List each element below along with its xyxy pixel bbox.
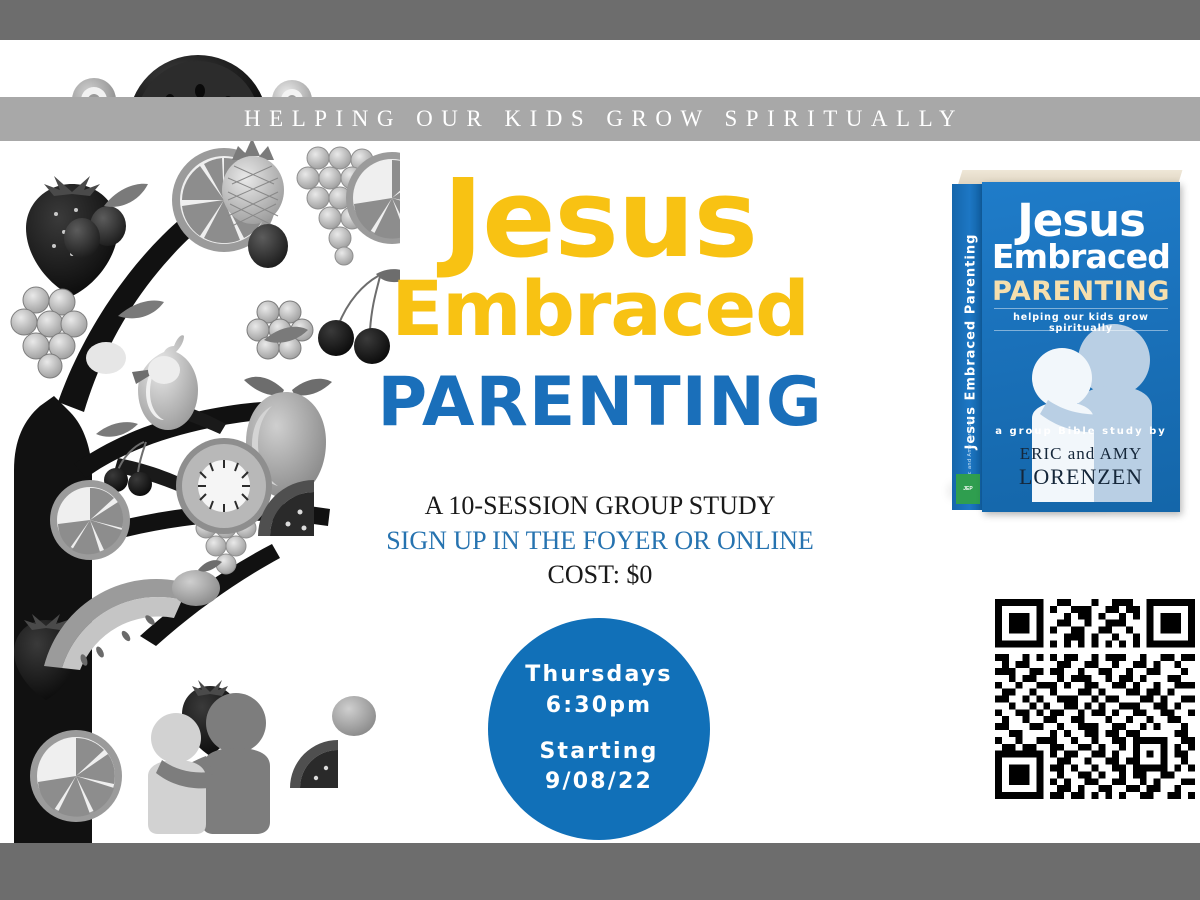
book-cover-rule-top xyxy=(994,308,1168,309)
slide-canvas: HELPING OUR KIDS GROW SPIRITUALLY Jesus … xyxy=(0,0,1200,900)
detail-session-count: A 10-SESSION GROUP STUDY xyxy=(330,489,870,523)
schedule-badge: Thursdays 6:30pm Starting 9/08/22 xyxy=(488,618,710,840)
title-line-embraced: Embraced xyxy=(330,271,870,347)
book-spine: Jesus Embraced Parenting Eric and Amy Lo… xyxy=(952,184,984,510)
book-cover-byline: a group Bible study by xyxy=(982,426,1180,437)
book-cover-authors-line2: LORENZEN xyxy=(982,464,1180,490)
book-spine-logo: JEP xyxy=(956,474,980,504)
bottom-bar xyxy=(0,843,1200,900)
title-line-jesus: Jesus xyxy=(330,170,870,269)
tagline-banner: HELPING OUR KIDS GROW SPIRITUALLY xyxy=(0,97,1200,141)
book-cover-authors-line1: ERIC and AMY xyxy=(982,444,1180,464)
schedule-starting-label: Starting xyxy=(539,737,658,767)
parent-child-embrace-illustration xyxy=(118,690,308,845)
qr-code[interactable] xyxy=(995,595,1195,803)
details-block: A 10-SESSION GROUP STUDY SIGN UP IN THE … xyxy=(330,489,870,592)
book-cover-title-parenting: PARENTING xyxy=(982,278,1180,305)
top-bar xyxy=(0,0,1200,40)
book-front-cover: Jesus Embraced PARENTING helping our kid… xyxy=(982,182,1180,512)
detail-signup: SIGN UP IN THE FOYER OR ONLINE xyxy=(330,524,870,558)
book-mockup: Jesus Embraced Parenting Eric and Amy Lo… xyxy=(938,170,1200,525)
schedule-day: Thursdays xyxy=(525,660,672,690)
detail-cost: COST: $0 xyxy=(330,558,870,592)
schedule-starting-date: 9/08/22 xyxy=(545,767,653,797)
book-cover-rule-bottom xyxy=(994,330,1168,331)
book-cover-title-embraced: Embraced xyxy=(982,240,1180,273)
banner-text: HELPING OUR KIDS GROW SPIRITUALLY xyxy=(236,106,964,132)
schedule-time: 6:30pm xyxy=(546,691,653,721)
title-line-parenting: PARENTING xyxy=(330,369,870,437)
main-content: Jesus Embraced PARENTING A 10-SESSION GR… xyxy=(330,170,870,592)
